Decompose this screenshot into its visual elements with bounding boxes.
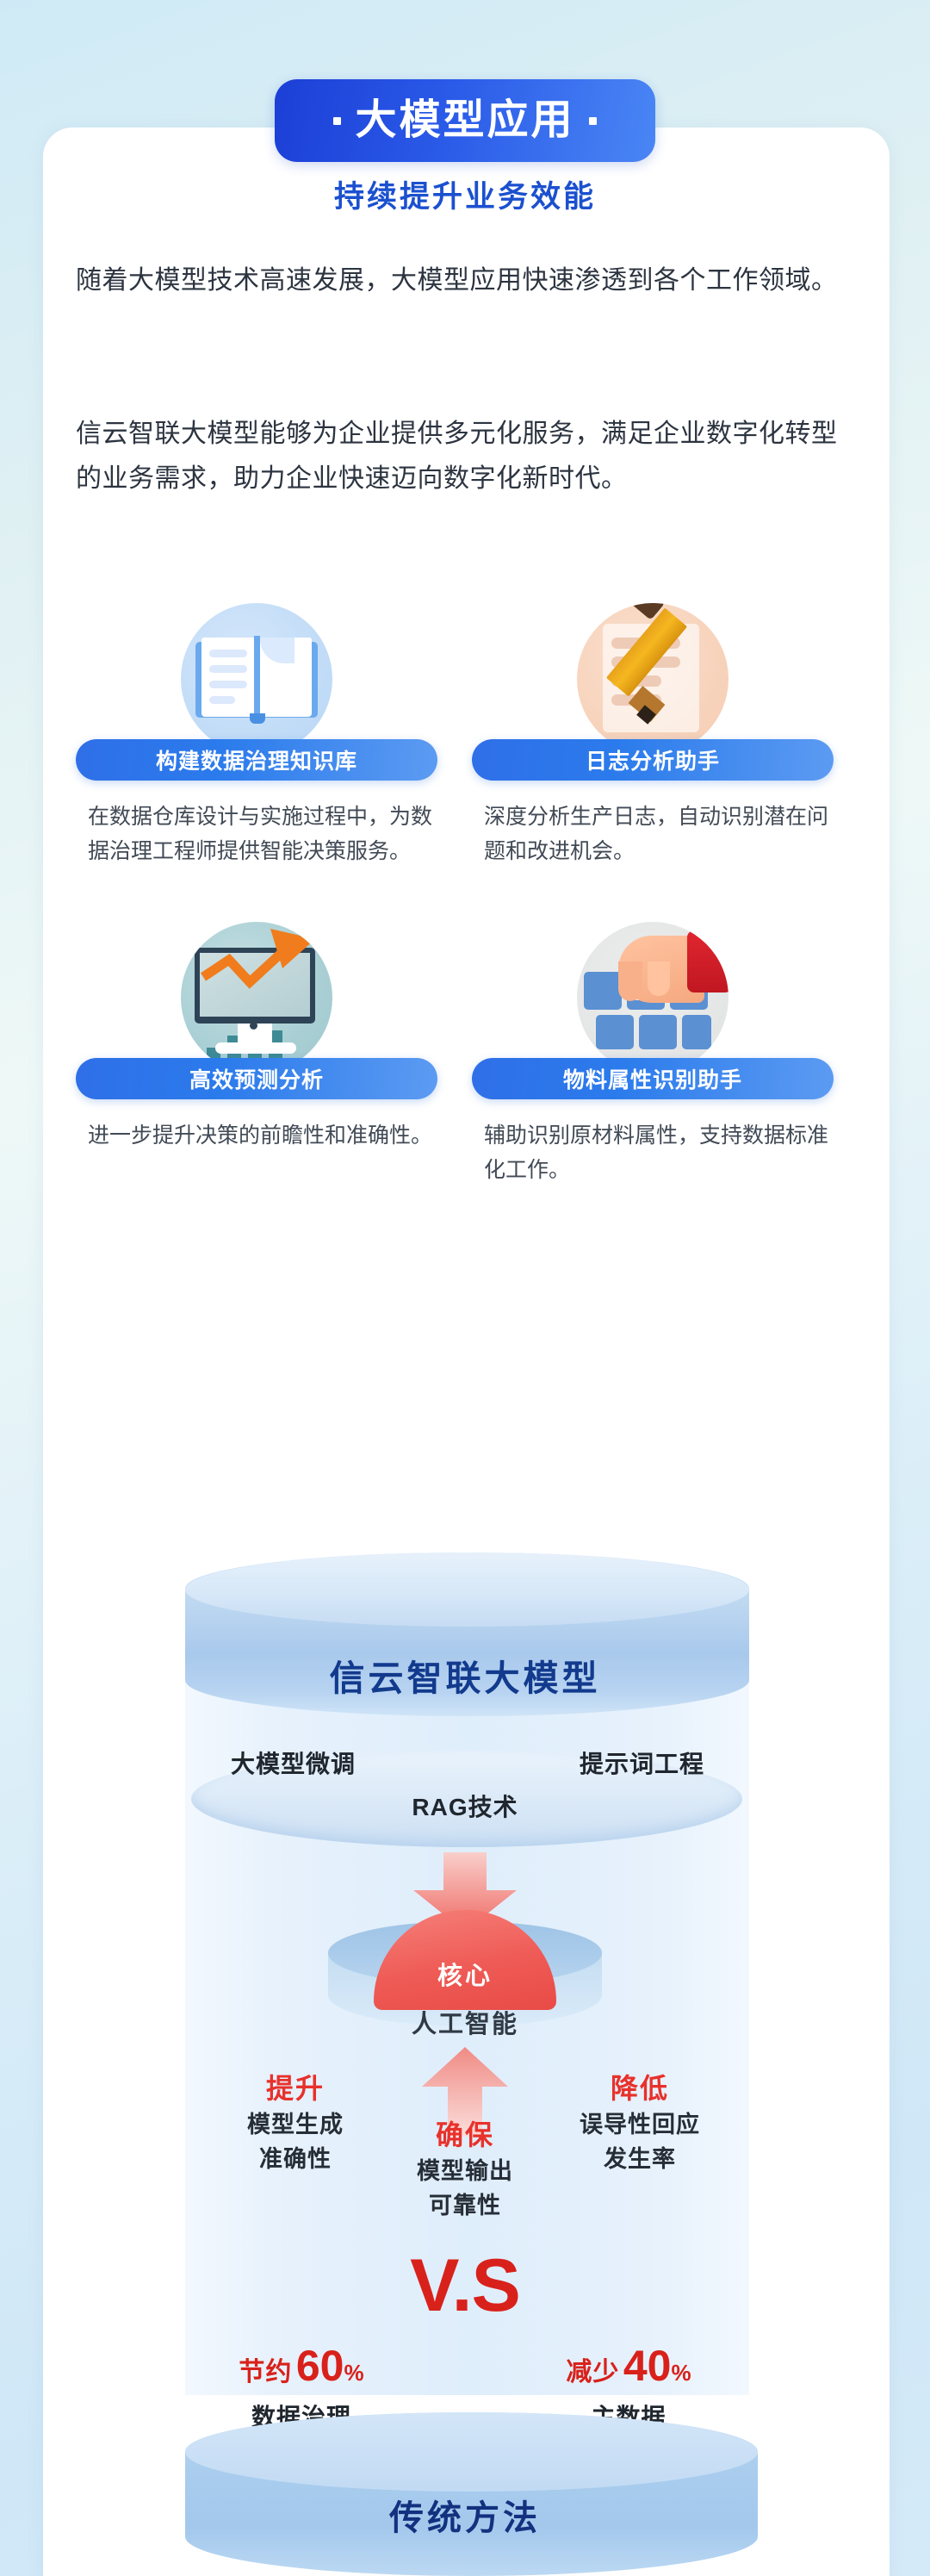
- core-sub-label: 人工智能: [0, 2004, 930, 2040]
- stat-head: 提升: [188, 2069, 403, 2107]
- top-cylinder-lid: [185, 1552, 749, 1627]
- pencil-document-icon: [577, 603, 728, 755]
- intro-paragraph-1: 随着大模型技术高速发展，大模型应用快速渗透到各个工作领域。: [76, 258, 842, 303]
- stat-line-1: 误导性回应: [532, 2107, 747, 2142]
- feature-description: 深度分析生产日志，自动识别潜在问题和改进机会。: [472, 800, 834, 868]
- trend-arrow-icon: [181, 922, 332, 1073]
- header-badge: 大模型应用: [275, 79, 655, 162]
- feature-description: 进一步提升决策的前瞻性和准确性。: [76, 1118, 437, 1153]
- feature-description: 辅助识别原材料属性，支持数据标准化工作。: [472, 1118, 834, 1187]
- bottom-cylinder-lid: [185, 2412, 758, 2492]
- feature-title: 物料属性识别助手: [563, 1063, 742, 1094]
- feature-title: 高效预测分析: [189, 1063, 324, 1094]
- kpi-number: 40: [623, 2342, 672, 2390]
- feature-title-pill: 构建数据治理知识库: [76, 739, 437, 781]
- stat-line-2: 可靠性: [366, 2188, 564, 2223]
- feature-title-pill: 物料属性识别助手: [472, 1058, 834, 1099]
- intro-paragraph-2: 信云智联大模型能够为企业提供多元化服务，满足企业数字化转型的业务需求，助力企业快…: [76, 412, 842, 501]
- hand-keyboard-icon: A: [577, 922, 728, 1073]
- feature-row-1: 构建数据治理知识库 在数据仓库设计与实施过程中，为数据治理工程师提供智能决策服务…: [76, 603, 851, 868]
- vs-label: V.S: [0, 2249, 930, 2323]
- stat-reduce: 降低 误导性回应 发生率: [532, 2069, 747, 2176]
- badge-dot-left-icon: [333, 117, 341, 125]
- feature-title: 构建数据治理知识库: [156, 744, 357, 775]
- feature-icon-wrap: [472, 603, 834, 758]
- stat-head: 降低: [532, 2069, 747, 2107]
- mid-label-center: RAG技术: [0, 1789, 930, 1823]
- feature-icon-wrap: [76, 603, 437, 758]
- header-subtitle: 持续提升业务效能: [334, 172, 596, 216]
- feature-grid: 构建数据治理知识库 在数据仓库设计与实施过程中，为数据治理工程师提供智能决策服务…: [76, 603, 851, 1187]
- top-cylinder-label: 信云智联大模型: [0, 1649, 930, 1701]
- feature-card-material-attr[interactable]: A 物料属性识别助手 辅助识别原材料属性，支持数据标准化工作。: [472, 922, 834, 1187]
- stat-line-2: 发生率: [532, 2142, 747, 2176]
- feature-description: 在数据仓库设计与实施过程中，为数据治理工程师提供智能决策服务。: [76, 800, 437, 868]
- kpi-headline: 减少 40%: [499, 2343, 758, 2399]
- bottom-cylinder-label: 传统方法: [0, 2490, 930, 2540]
- feature-title-pill: 高效预测分析: [76, 1058, 437, 1099]
- mid-label-right: 提示词工程: [580, 1745, 704, 1780]
- kpi-headline: 节约 60%: [172, 2343, 431, 2399]
- kpi-prefix: 节约: [239, 2358, 292, 2386]
- feature-card-forecast[interactable]: 高效预测分析 进一步提升决策的前瞻性和准确性。: [76, 922, 437, 1187]
- core-label: 核心: [0, 1956, 930, 1992]
- feature-row-2: 高效预测分析 进一步提升决策的前瞻性和准确性。 A 物料属性识别助手 辅助识别原…: [76, 922, 851, 1187]
- kpi-number: 60: [296, 2342, 344, 2390]
- mid-label-left: 大模型微调: [231, 1745, 356, 1780]
- kpi-unit: %: [344, 2360, 363, 2386]
- open-book-icon: [181, 603, 332, 755]
- badge-dot-right-icon: [589, 117, 597, 125]
- feature-title: 日志分析助手: [586, 744, 720, 775]
- monitor-chart-arrow-icon: [181, 922, 332, 1073]
- feature-title-pill: 日志分析助手: [472, 739, 834, 781]
- header-badge-title: 大模型应用: [355, 100, 574, 141]
- feature-icon-wrap: [76, 922, 437, 1077]
- kpi-unit: %: [671, 2360, 691, 2386]
- feature-card-log-analysis[interactable]: 日志分析助手 深度分析生产日志，自动识别潜在问题和改进机会。: [472, 603, 834, 868]
- model-architecture-diagram: 信云智联大模型 大模型微调 提示词工程 RAG技术 核心 人工智能 提升 模型生…: [0, 1534, 930, 2576]
- feature-card-knowledge-base[interactable]: 构建数据治理知识库 在数据仓库设计与实施过程中，为数据治理工程师提供智能决策服务…: [76, 603, 437, 868]
- kpi-prefix: 减少: [566, 2358, 619, 2386]
- feature-icon-wrap: A: [472, 922, 834, 1077]
